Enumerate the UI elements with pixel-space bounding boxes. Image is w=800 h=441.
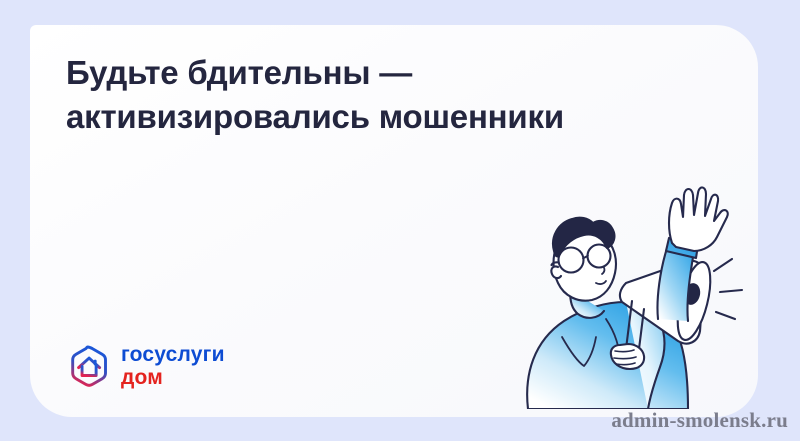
- banner-stage: Будьте бдительны — активизировались моше…: [0, 0, 800, 441]
- house-hexagon-icon: [65, 344, 110, 389]
- gosuslugi-dom-logo[interactable]: госуслуги дом: [65, 344, 225, 389]
- logo-word-dom: дом: [121, 368, 225, 389]
- announcement-card: Будьте бдительны — активизировались моше…: [30, 25, 758, 417]
- page-title: Будьте бдительны — активизировались моше…: [66, 51, 666, 139]
- source-watermark: admin-smolensk.ru: [611, 408, 788, 433]
- logo-wordmark: госуслуги дом: [121, 345, 225, 388]
- illustration-man-with-megaphone: [508, 159, 756, 409]
- logo-word-gosuslugi: госуслуги: [121, 345, 225, 366]
